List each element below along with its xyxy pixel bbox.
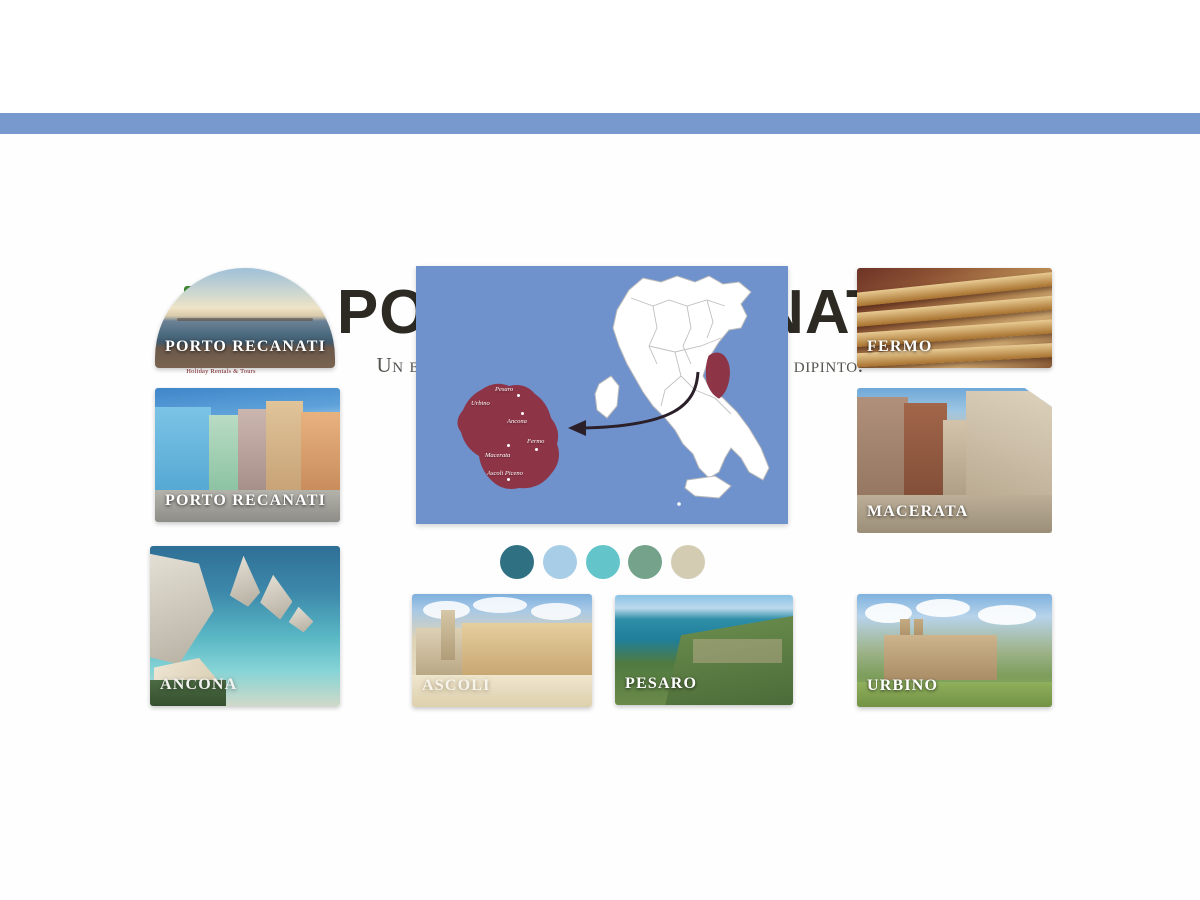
map-city-dot-fermo bbox=[535, 448, 538, 451]
map-city-label-fermo: Fermo bbox=[527, 438, 544, 445]
palette-swatch-2[interactable] bbox=[543, 545, 577, 579]
photo-caption: PESARO bbox=[625, 675, 697, 693]
photo-card-porto-recanati-houses[interactable]: PORTO RECANATI bbox=[155, 388, 340, 522]
photo-caption: FERMO bbox=[867, 338, 933, 356]
brand-tagline: Holiday Rentals & Tours bbox=[167, 368, 275, 375]
palette-swatch-4[interactable] bbox=[628, 545, 662, 579]
photo-caption: URBINO bbox=[867, 677, 938, 695]
map-city-label-macerata: Macerata bbox=[485, 452, 510, 459]
header: Italian Experience Holiday Rentals & Tou… bbox=[0, 140, 1200, 252]
photo-caption: ANCONA bbox=[160, 676, 237, 694]
map-city-label-urbino: Urbino bbox=[471, 400, 490, 407]
photo-card-fermo[interactable]: FERMO bbox=[857, 268, 1052, 368]
color-palette bbox=[500, 541, 705, 583]
italy-map-panel[interactable]: Pesaro Urbino Ancona Fermo Macerata Asco… bbox=[416, 266, 788, 524]
palette-swatch-1[interactable] bbox=[500, 545, 534, 579]
top-accent-band bbox=[0, 113, 1200, 134]
map-city-dot-macerata bbox=[507, 444, 510, 447]
marche-region-inset: Pesaro Urbino Ancona Fermo Macerata Asco… bbox=[451, 378, 581, 496]
photo-card-urbino[interactable]: URBINO bbox=[857, 594, 1052, 707]
marche-shape-svg bbox=[451, 378, 581, 496]
photo-card-porto-recanati-beach[interactable]: PORTO RECANATI bbox=[155, 268, 335, 368]
map-city-label-pesaro: Pesaro bbox=[495, 386, 513, 393]
top-whitespace bbox=[0, 0, 1200, 113]
photo-card-ancona[interactable]: ANCONA bbox=[150, 546, 340, 706]
photo-card-pesaro[interactable]: PESARO bbox=[615, 595, 793, 705]
photo-caption: MACERATA bbox=[867, 503, 968, 521]
map-city-dot-ascoli bbox=[507, 478, 510, 481]
slide-canvas: Italian Experience Holiday Rentals & Tou… bbox=[0, 0, 1200, 900]
map-city-dot-pesaro bbox=[517, 394, 520, 397]
photo-caption: PORTO RECANATI bbox=[165, 492, 326, 510]
photo-caption: ASCOLI bbox=[422, 677, 491, 695]
palette-swatch-3[interactable] bbox=[586, 545, 620, 579]
photo-card-ascoli[interactable]: ASCOLI bbox=[412, 594, 592, 707]
photo-caption: PORTO RECANATI bbox=[165, 338, 326, 356]
map-city-label-ancona: Ancona bbox=[507, 418, 527, 425]
map-city-dot-ancona bbox=[521, 412, 524, 415]
map-city-label-ascoli: Ascoli Piceno bbox=[487, 470, 523, 477]
photo-card-macerata[interactable]: MACERATA bbox=[857, 388, 1052, 533]
palette-swatch-5[interactable] bbox=[671, 545, 705, 579]
